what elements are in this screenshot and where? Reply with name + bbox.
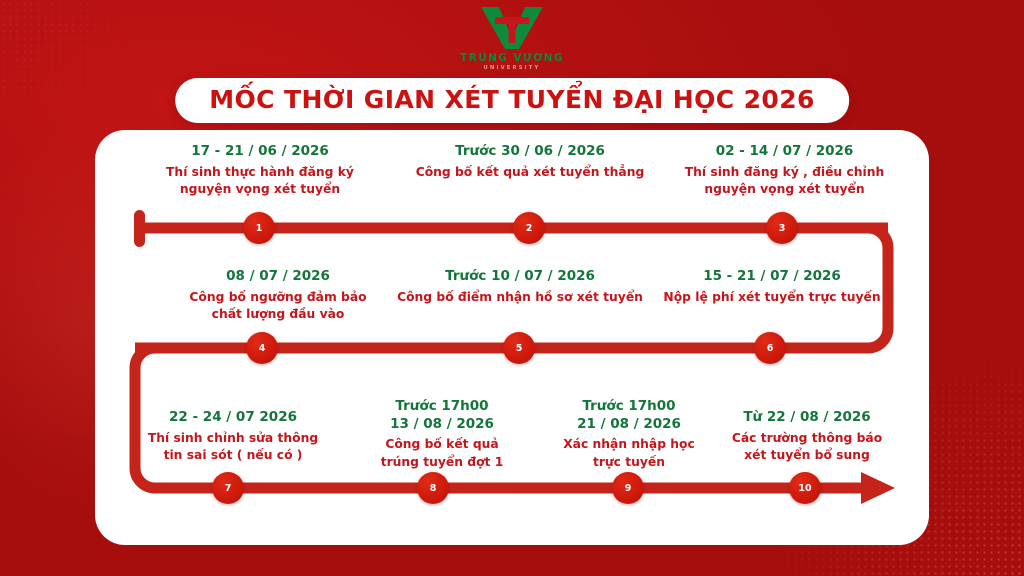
timeline-item-2-date: Trước 30 / 06 / 2026 <box>400 143 660 161</box>
timeline-item-3: 02 - 14 / 07 / 2026 Thí sinh đăng ký , đ… <box>657 143 912 198</box>
timeline-item-1: 17 - 21 / 06 / 2026 Thí sinh thực hành đ… <box>135 143 385 198</box>
timeline-item-3-date: 02 - 14 / 07 / 2026 <box>657 143 912 161</box>
timeline-node-7-label: 7 <box>225 483 232 494</box>
timeline-item-9: Trước 17h00 21 / 08 / 2026 Xác nhận nhập… <box>538 398 720 471</box>
timeline-node-5-label: 5 <box>516 343 523 354</box>
trung-vuong-v-logo-icon <box>475 4 549 52</box>
timeline-node-2[interactable]: 2 <box>513 212 545 244</box>
timeline-item-1-desc: Thí sinh thực hành đăng ký nguyện vọng x… <box>135 164 385 199</box>
timeline-node-7[interactable]: 7 <box>212 472 244 504</box>
timeline-item-4-desc: Công bố ngưỡng đảm bảo chất lượng đầu và… <box>147 289 409 324</box>
timeline-item-6-desc: Nộp lệ phí xét tuyển trực tuyến <box>645 289 899 306</box>
timeline-item-8-date: Trước 17h00 13 / 08 / 2026 <box>352 398 532 433</box>
arrow-right-icon <box>861 472 895 504</box>
timeline-item-7-desc: Thí sinh chỉnh sửa thông tin sai sót ( n… <box>140 430 326 465</box>
brand-logo: TRUNG VƯƠNG UNIVERSITY <box>0 4 1024 78</box>
timeline-node-5[interactable]: 5 <box>503 332 535 364</box>
timeline-node-9-label: 9 <box>625 483 632 494</box>
line-start-cap-icon <box>134 210 145 247</box>
timeline-node-10-label: 10 <box>798 483 811 494</box>
timeline-node-3[interactable]: 3 <box>766 212 798 244</box>
timeline-node-2-label: 2 <box>526 223 533 234</box>
timeline-item-7-date: 22 - 24 / 07 2026 <box>140 409 326 427</box>
timeline-item-10: Từ 22 / 08 / 2026 Các trường thông báo x… <box>715 409 899 464</box>
page-title: MỐC THỜI GIAN XÉT TUYỂN ĐẠI HỌC 2026 <box>209 87 815 112</box>
timeline-node-4[interactable]: 4 <box>246 332 278 364</box>
timeline-item-10-desc: Các trường thông báo xét tuyển bổ sung <box>715 430 899 465</box>
brand-subtitle: UNIVERSITY <box>484 66 541 71</box>
timeline-node-3-label: 3 <box>779 223 786 234</box>
timeline-item-5-desc: Công bố điểm nhận hồ sơ xét tuyển <box>392 289 648 306</box>
timeline-item-4-date: 08 / 07 / 2026 <box>147 268 409 286</box>
timeline-item-6-date: 15 - 21 / 07 / 2026 <box>645 268 899 286</box>
timeline-item-9-date: Trước 17h00 21 / 08 / 2026 <box>538 398 720 433</box>
timeline-item-5-date: Trước 10 / 07 / 2026 <box>392 268 648 286</box>
timeline-item-4: 08 / 07 / 2026 Công bố ngưỡng đảm bảo ch… <box>147 268 409 323</box>
timeline-item-6: 15 - 21 / 07 / 2026 Nộp lệ phí xét tuyển… <box>645 268 899 306</box>
timeline-node-6-label: 6 <box>767 343 774 354</box>
timeline-node-8-label: 8 <box>430 483 437 494</box>
timeline-item-7: 22 - 24 / 07 2026 Thí sinh chỉnh sửa thô… <box>140 409 326 464</box>
timeline-node-10[interactable]: 10 <box>789 472 821 504</box>
timeline-item-8-desc: Công bố kết quả trúng tuyển đợt 1 <box>352 436 532 471</box>
timeline-node-6[interactable]: 6 <box>754 332 786 364</box>
timeline-node-9[interactable]: 9 <box>612 472 644 504</box>
timeline-node-4-label: 4 <box>259 343 266 354</box>
brand-name: TRUNG VƯƠNG <box>460 53 564 64</box>
timeline-item-9-desc: Xác nhận nhập học trực tuyến <box>538 436 720 471</box>
timeline-item-1-date: 17 - 21 / 06 / 2026 <box>135 143 385 161</box>
timeline-node-1[interactable]: 1 <box>243 212 275 244</box>
timeline-item-2: Trước 30 / 06 / 2026 Công bố kết quả xét… <box>400 143 660 181</box>
timeline-item-10-date: Từ 22 / 08 / 2026 <box>715 409 899 427</box>
timeline-node-8[interactable]: 8 <box>417 472 449 504</box>
timeline-item-2-desc: Công bố kết quả xét tuyển thẳng <box>400 164 660 181</box>
timeline-node-1-label: 1 <box>256 223 263 234</box>
timeline-item-3-desc: Thí sinh đăng ký , điều chỉnh nguyện vọn… <box>657 164 912 199</box>
timeline-item-8: Trước 17h00 13 / 08 / 2026 Công bố kết q… <box>352 398 532 471</box>
page-title-pill: MỐC THỜI GIAN XÉT TUYỂN ĐẠI HỌC 2026 <box>175 78 849 123</box>
timeline-item-5: Trước 10 / 07 / 2026 Công bố điểm nhận h… <box>392 268 648 306</box>
infographic-canvas: TRUNG VƯƠNG UNIVERSITY MỐC THỜI GIAN XÉT… <box>0 0 1024 576</box>
